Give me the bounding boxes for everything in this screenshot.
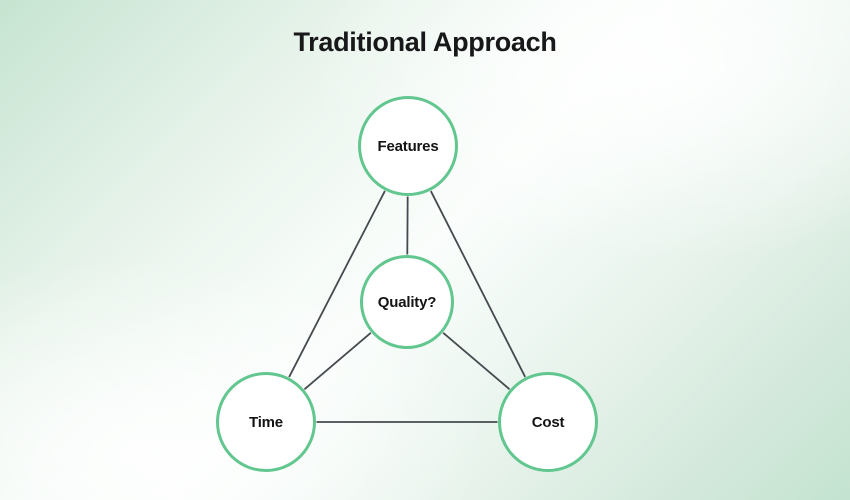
node-features-label: Features [378, 138, 439, 155]
node-features[interactable]: Features [358, 96, 458, 196]
node-time-label: Time [249, 414, 283, 431]
node-quality[interactable]: Quality? [360, 255, 454, 349]
diagram-canvas: Traditional Approach Features Quality? T… [0, 0, 850, 500]
edge-quality-time [304, 333, 370, 389]
node-cost-label: Cost [532, 414, 565, 431]
page-title: Traditional Approach [0, 27, 850, 58]
node-time[interactable]: Time [216, 372, 316, 472]
edge-quality-cost [443, 333, 509, 389]
node-cost[interactable]: Cost [498, 372, 598, 472]
node-quality-label: Quality? [378, 294, 436, 311]
edge-layer [0, 0, 850, 500]
